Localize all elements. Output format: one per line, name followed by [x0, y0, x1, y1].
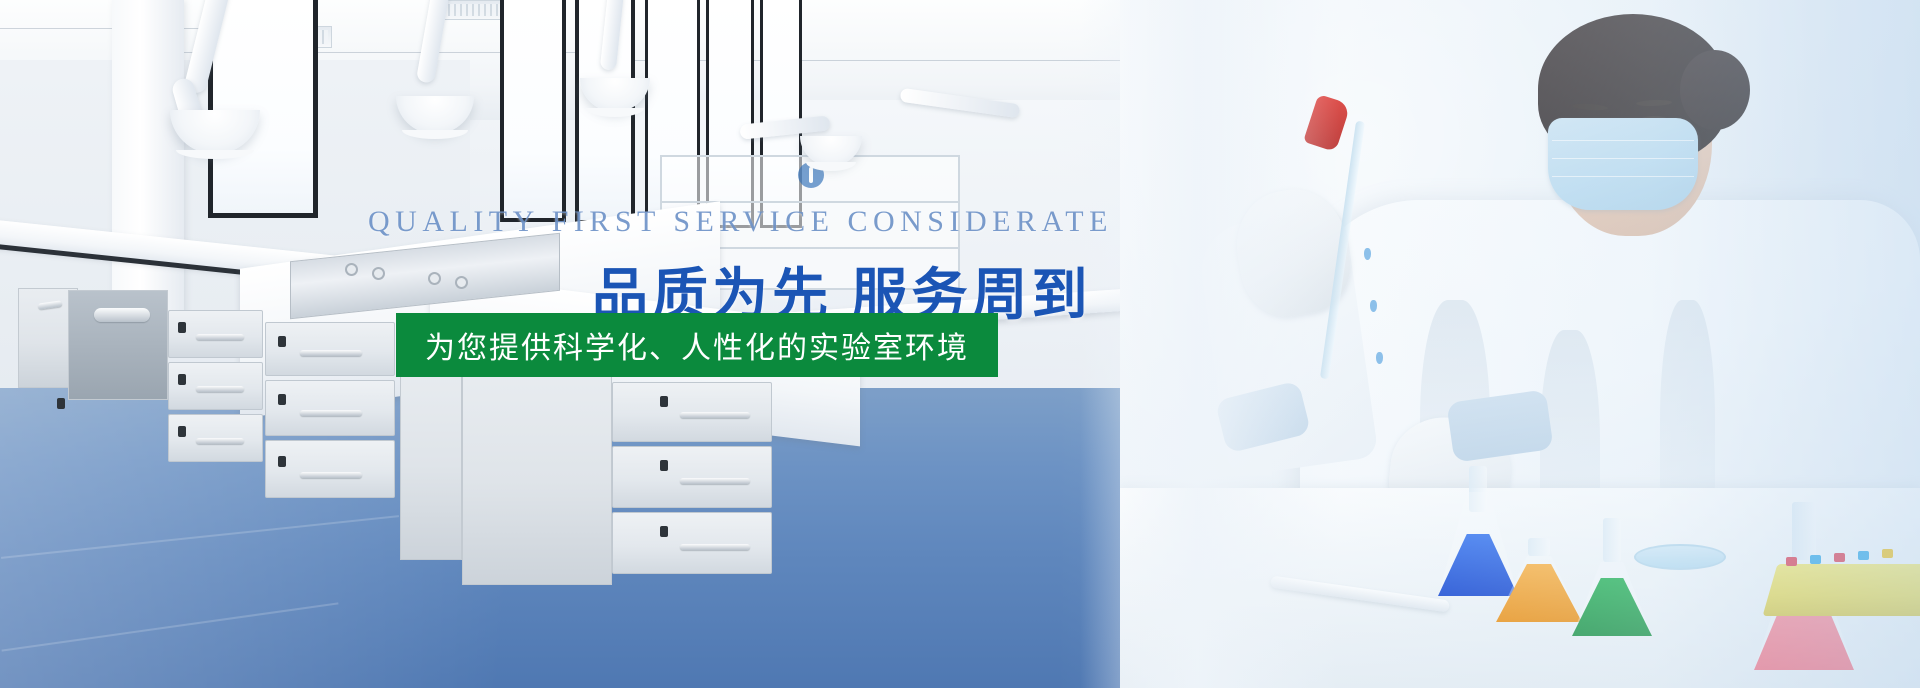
banner-subtitle-bar: 为您提供科学化、人性化的实验室环境 [396, 313, 998, 377]
banner-eyebrow-text: QUALITY FIRST SERVICE CONSIDERATE [368, 205, 1028, 239]
banner-text-overlay: QUALITY FIRST SERVICE CONSIDERATE 品质为先 服… [0, 0, 1920, 688]
banner-subtitle-text: 为您提供科学化、人性化的实验室环境 [425, 323, 969, 367]
hero-banner: QUALITY FIRST SERVICE CONSIDERATE 品质为先 服… [0, 0, 1920, 688]
